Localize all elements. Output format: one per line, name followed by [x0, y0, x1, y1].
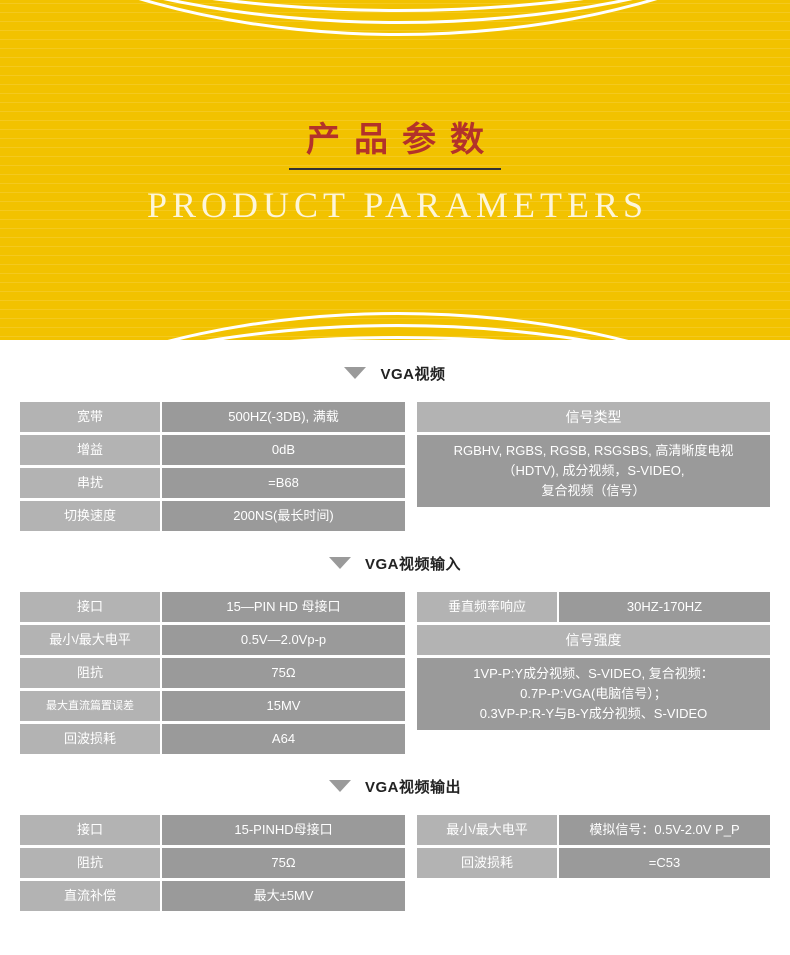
signal-strength-panel: 垂直频率响应 30HZ-170HZ 信号强度 1VP-P:Y成分视频、S-VID… [417, 592, 770, 757]
panel-line: 0.7P-P:VGA(电脑信号）； [423, 684, 764, 704]
panel-body: RGBHV, RGBS, RGSB, RSGSBS, 高清晰度电视 （HDTV)… [417, 435, 770, 507]
row-value: 0dB [162, 435, 405, 465]
row-value: 15-PINHD母接口 [162, 815, 405, 845]
table-row: 串扰 =B68 [20, 468, 405, 498]
row-label: 最小/最大电平 [417, 815, 557, 845]
row-value: 最大±5MV [162, 881, 405, 911]
spec-block-vga-input: 接口 15—PIN HD 母接口 最小/最大电平 0.5V—2.0Vp-p 阻抗… [0, 592, 790, 757]
row-label: 回波损耗 [417, 848, 557, 878]
spec-table-vga-output: 接口 15-PINHD母接口 阻抗 75Ω 直流补偿 最大±5MV [20, 815, 405, 914]
spec-block-vga-video: 宽带 500HZ(-3DB), 满载 增益 0dB 串扰 =B68 切换速度 2… [0, 402, 790, 534]
spec-block-vga-output: 接口 15-PINHD母接口 阻抗 75Ω 直流补偿 最大±5MV 最小/最大电… [0, 815, 790, 914]
spec-table-vga-output-right: 最小/最大电平 模拟信号：0.5V-2.0V P_P 回波损耗 =C53 [417, 815, 770, 914]
signal-type-panel: 信号类型 RGBHV, RGBS, RGSB, RSGSBS, 高清晰度电视 （… [417, 402, 770, 534]
table-row: 阻抗 75Ω [20, 658, 405, 688]
row-label: 最小/最大电平 [20, 625, 160, 655]
row-label: 直流补偿 [20, 881, 160, 911]
section-heading-vga-output: VGA视频输出 [0, 771, 790, 801]
section-title-text: VGA视频 [380, 363, 445, 384]
row-value: =B68 [162, 468, 405, 498]
product-parameters-banner: 产品参数 PRODUCT PARAMETERS [0, 0, 790, 340]
row-label: 接口 [20, 592, 160, 622]
section-heading-vga-input: VGA视频输入 [0, 548, 790, 578]
row-value: =C53 [559, 848, 770, 878]
row-label: 阻抗 [20, 848, 160, 878]
triangle-down-icon [329, 780, 351, 792]
table-row: 阻抗 75Ω [20, 848, 405, 878]
table-row: 垂直频率响应 30HZ-170HZ [417, 592, 770, 622]
row-value: 0.5V—2.0Vp-p [162, 625, 405, 655]
panel-body: 1VP-P:Y成分视频、S-VIDEO, 复合视频： 0.7P-P:VGA(电脑… [417, 658, 770, 730]
table-row: 直流补偿 最大±5MV [20, 881, 405, 911]
banner-title-chinese: 产品参数 [0, 112, 790, 161]
panel-title: 信号类型 [417, 402, 770, 432]
row-value: 200NS(最长时间) [162, 501, 405, 531]
banner-title-english: PRODUCT PARAMETERS [0, 184, 790, 226]
table-row: 接口 15-PINHD母接口 [20, 815, 405, 845]
row-label: 最大直流篇置误差 [20, 691, 160, 721]
triangle-down-icon [329, 557, 351, 569]
table-row: 回波损耗 A64 [20, 724, 405, 754]
row-label: 阻抗 [20, 658, 160, 688]
table-row: 切换速度 200NS(最长时间) [20, 501, 405, 531]
table-row: 宽带 500HZ(-3DB), 满载 [20, 402, 405, 432]
table-row: 接口 15—PIN HD 母接口 [20, 592, 405, 622]
table-row: 最小/最大电平 0.5V—2.0Vp-p [20, 625, 405, 655]
table-row: 最小/最大电平 模拟信号：0.5V-2.0V P_P [417, 815, 770, 845]
row-value: 75Ω [162, 848, 405, 878]
panel-line: 0.3VP-P:R-Y与B-Y成分视频、S-VIDEO [423, 704, 764, 724]
spec-table-vga-input: 接口 15—PIN HD 母接口 最小/最大电平 0.5V—2.0Vp-p 阻抗… [20, 592, 405, 757]
banner-divider [289, 168, 501, 170]
panel-line: RGBHV, RGBS, RGSB, RSGSBS, 高清晰度电视 [423, 441, 764, 461]
row-label: 宽带 [20, 402, 160, 432]
row-label: 垂直频率响应 [417, 592, 557, 622]
table-row: 增益 0dB [20, 435, 405, 465]
row-label: 回波损耗 [20, 724, 160, 754]
row-label: 串扰 [20, 468, 160, 498]
spec-table-vga-video: 宽带 500HZ(-3DB), 满载 增益 0dB 串扰 =B68 切换速度 2… [20, 402, 405, 534]
table-row: 回波损耗 =C53 [417, 848, 770, 878]
panel-line: 1VP-P:Y成分视频、S-VIDEO, 复合视频： [423, 664, 764, 684]
panel-title: 信号强度 [417, 625, 770, 655]
table-row: 最大直流篇置误差 15MV [20, 691, 405, 721]
row-value: 模拟信号：0.5V-2.0V P_P [559, 815, 770, 845]
row-label: 增益 [20, 435, 160, 465]
row-value: 15—PIN HD 母接口 [162, 592, 405, 622]
row-label: 切换速度 [20, 501, 160, 531]
row-value: A64 [162, 724, 405, 754]
panel-line: （HDTV), 成分视频，S-VIDEO, [423, 461, 764, 481]
row-value: 75Ω [162, 658, 405, 688]
panel-line: 复合视频（信号） [423, 481, 764, 501]
row-value: 500HZ(-3DB), 满载 [162, 402, 405, 432]
section-heading-vga-video: VGA视频 [0, 358, 790, 388]
section-title-text: VGA视频输出 [365, 776, 461, 797]
row-label: 接口 [20, 815, 160, 845]
row-value: 15MV [162, 691, 405, 721]
triangle-down-icon [344, 367, 366, 379]
banner-content: 产品参数 PRODUCT PARAMETERS [0, 0, 790, 340]
section-title-text: VGA视频输入 [365, 553, 461, 574]
row-value: 30HZ-170HZ [559, 592, 770, 622]
